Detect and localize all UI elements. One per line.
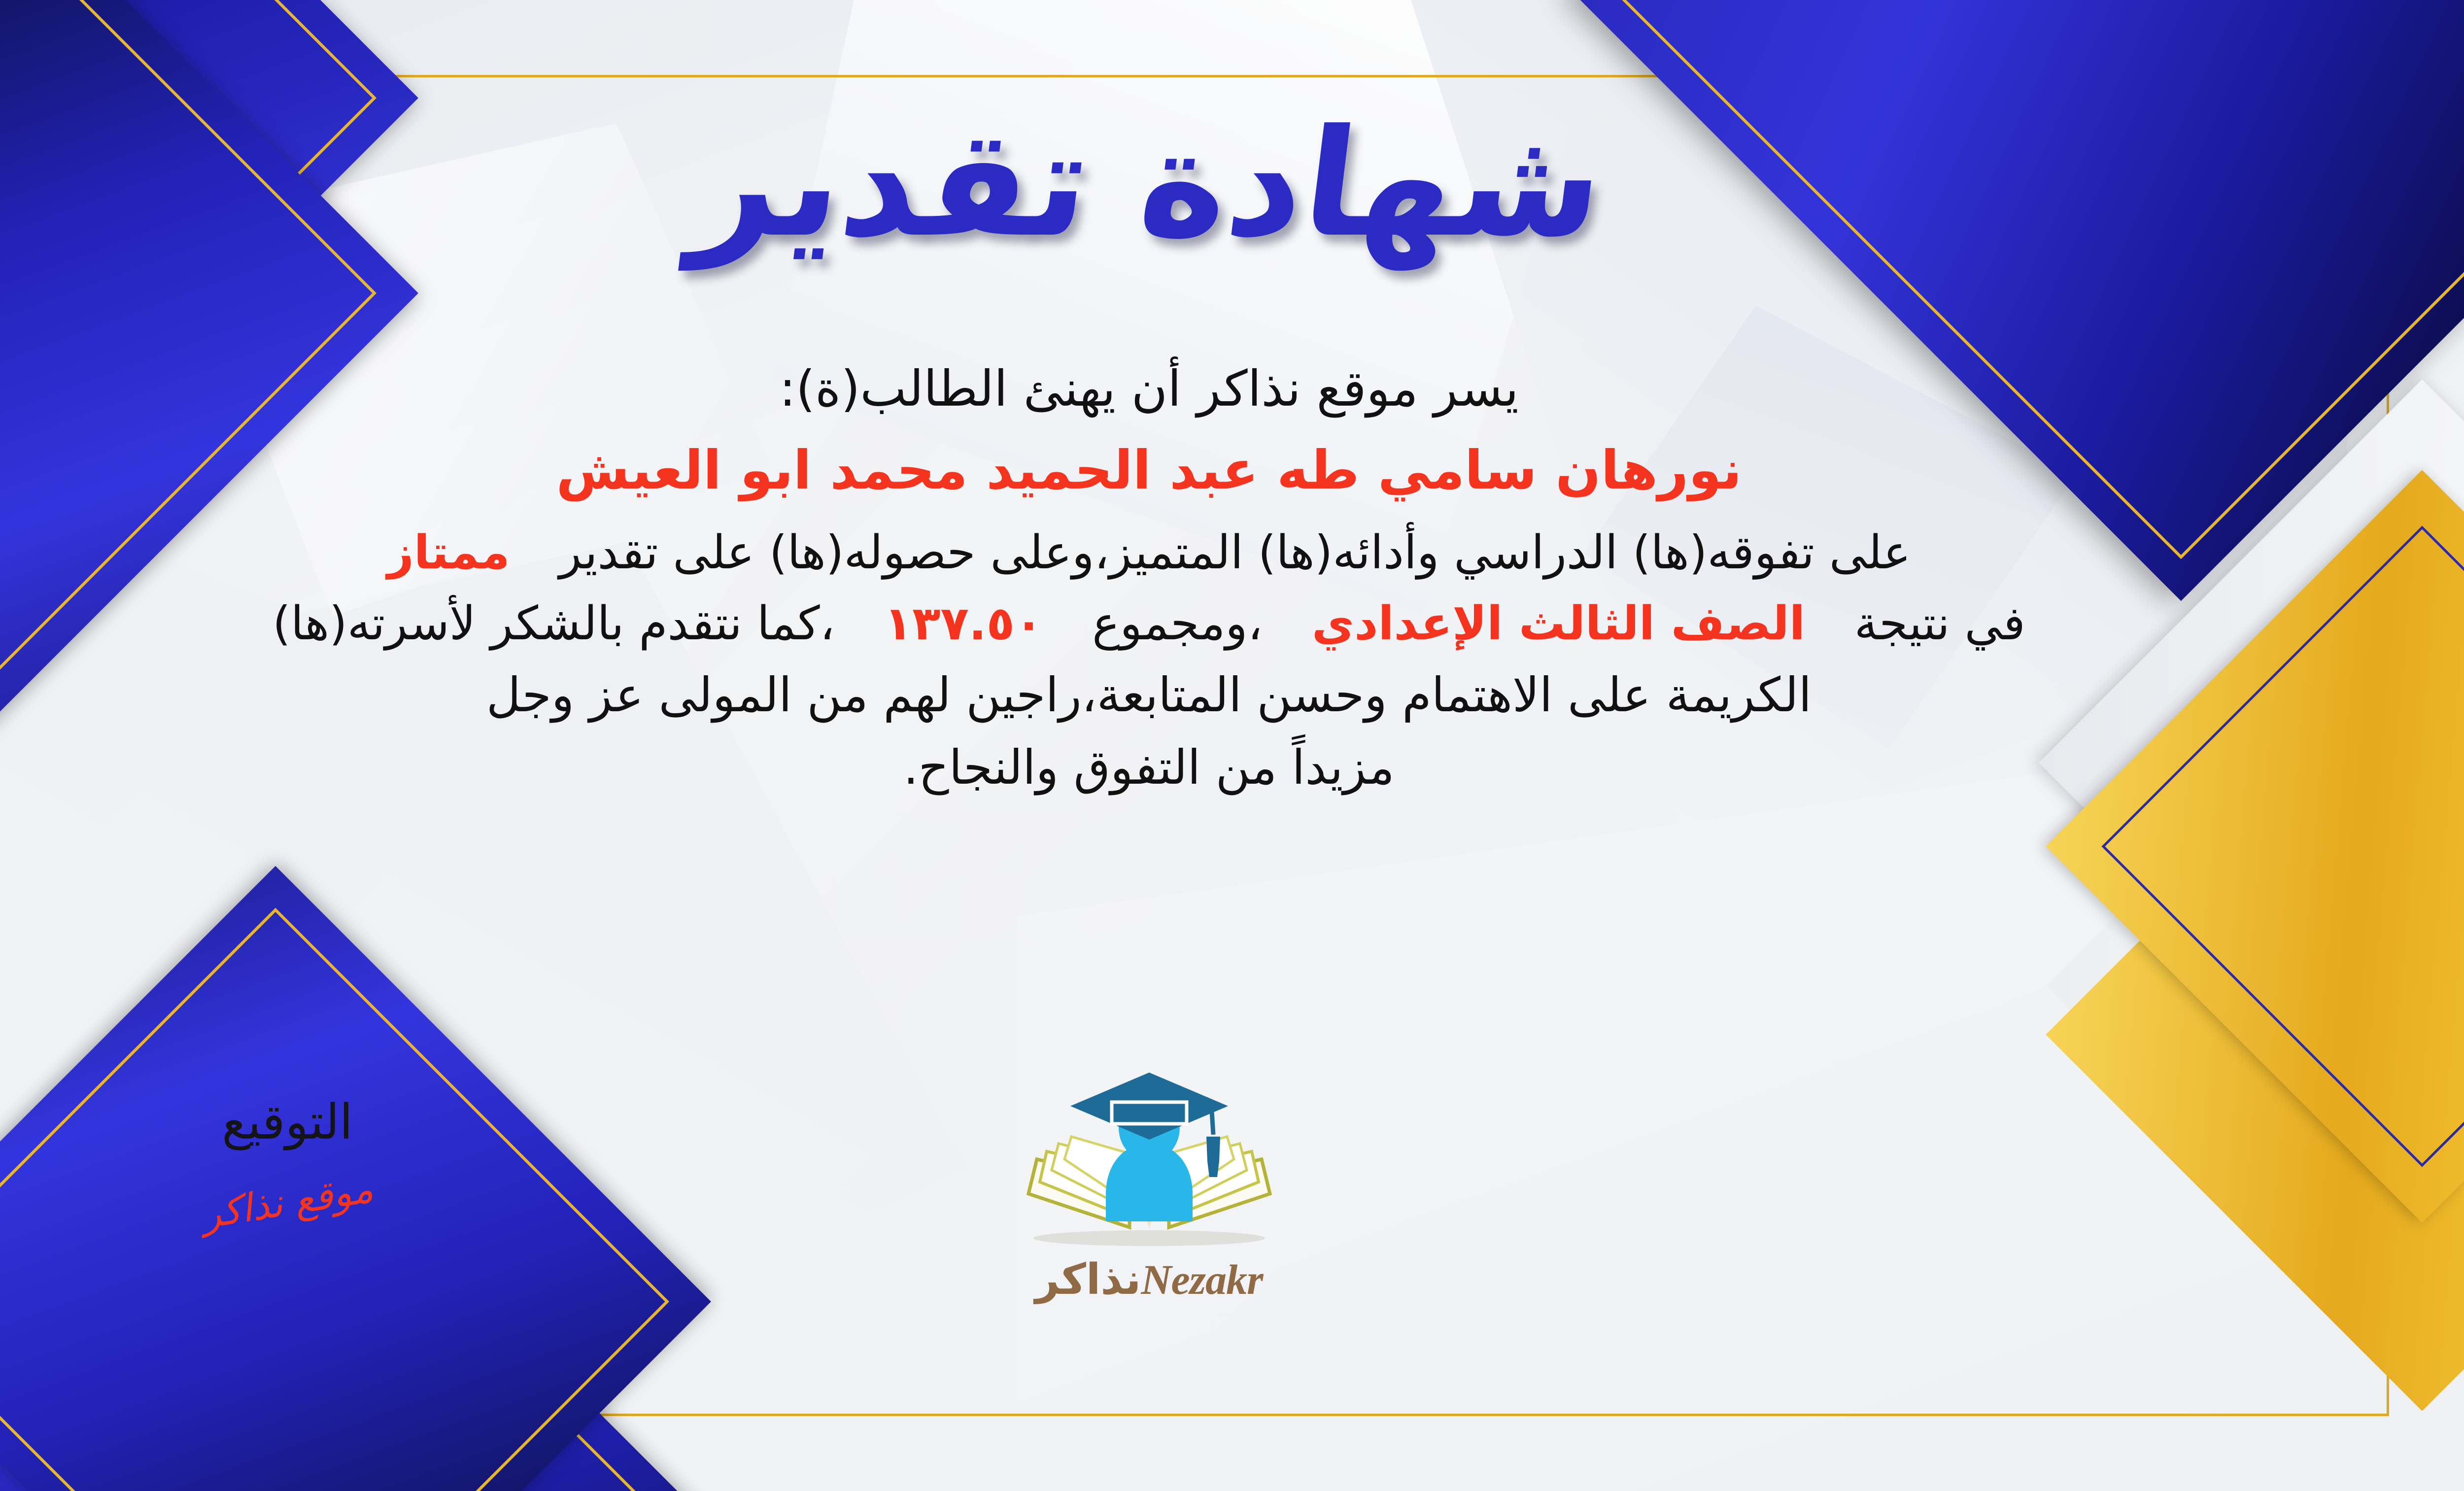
result-prefix: في نتيجة — [1854, 597, 2025, 651]
achievement-line: على تفوقه(ها) الدراسي وأدائه(ها) المتميز… — [0, 521, 2385, 585]
thanks-text: ،كما نتقدم بالشكر لأسرته(ها) — [273, 597, 835, 651]
graduation-book-icon — [982, 1065, 1317, 1252]
certificate-title: شهادة تقدير — [0, 98, 2396, 270]
certificate-content: شهادة تقدير يسر موقع نذاكر أن يهنئ الطال… — [0, 79, 2385, 1412]
signature-block: التوقيع موقع نذاكر — [149, 1094, 425, 1224]
total-score: ١٣٧.٥٠ — [884, 597, 1043, 651]
certificate-page: شهادة تقدير يسر موقع نذاكر أن يهنئ الطال… — [0, 0, 2464, 1491]
student-name: نورهان سامي طه عبد الحميد محمد ابو العيش — [0, 440, 2385, 501]
intro-line: يسر موقع نذاكر أن يهنئ الطالب(ة): — [0, 355, 2385, 423]
achievement-text: على تفوقه(ها) الدراسي وأدائه(ها) المتميز… — [559, 526, 1911, 580]
certificate-body: يسر موقع نذاكر أن يهنئ الطالب(ة): نورهان… — [0, 355, 2385, 807]
result-line: في نتيجة الصف الثالث الإعدادي ،ومجموع ١٣… — [0, 592, 2385, 656]
family-thanks-line: الكريمة على الاهتمام وحسن المتابعة،راجين… — [0, 662, 2385, 728]
logo-wordmark: Nezakrنذاكر — [982, 1255, 1317, 1304]
signature-mark: موقع نذاكر — [199, 1167, 376, 1238]
total-prefix: ،ومجموع — [1092, 597, 1263, 651]
logo-name-ar: نذاكر — [1035, 1255, 1141, 1304]
grade-rating: ممتاز — [387, 526, 510, 580]
closing-line: مزيداً من التفوق والنجاح. — [0, 735, 2385, 800]
signature-label: التوقيع — [149, 1094, 425, 1150]
class-name: الصف الثالث الإعدادي — [1312, 597, 1805, 651]
site-logo: Nezakrنذاكر — [982, 1065, 1317, 1304]
logo-name-en: Nezakr — [1141, 1256, 1263, 1303]
